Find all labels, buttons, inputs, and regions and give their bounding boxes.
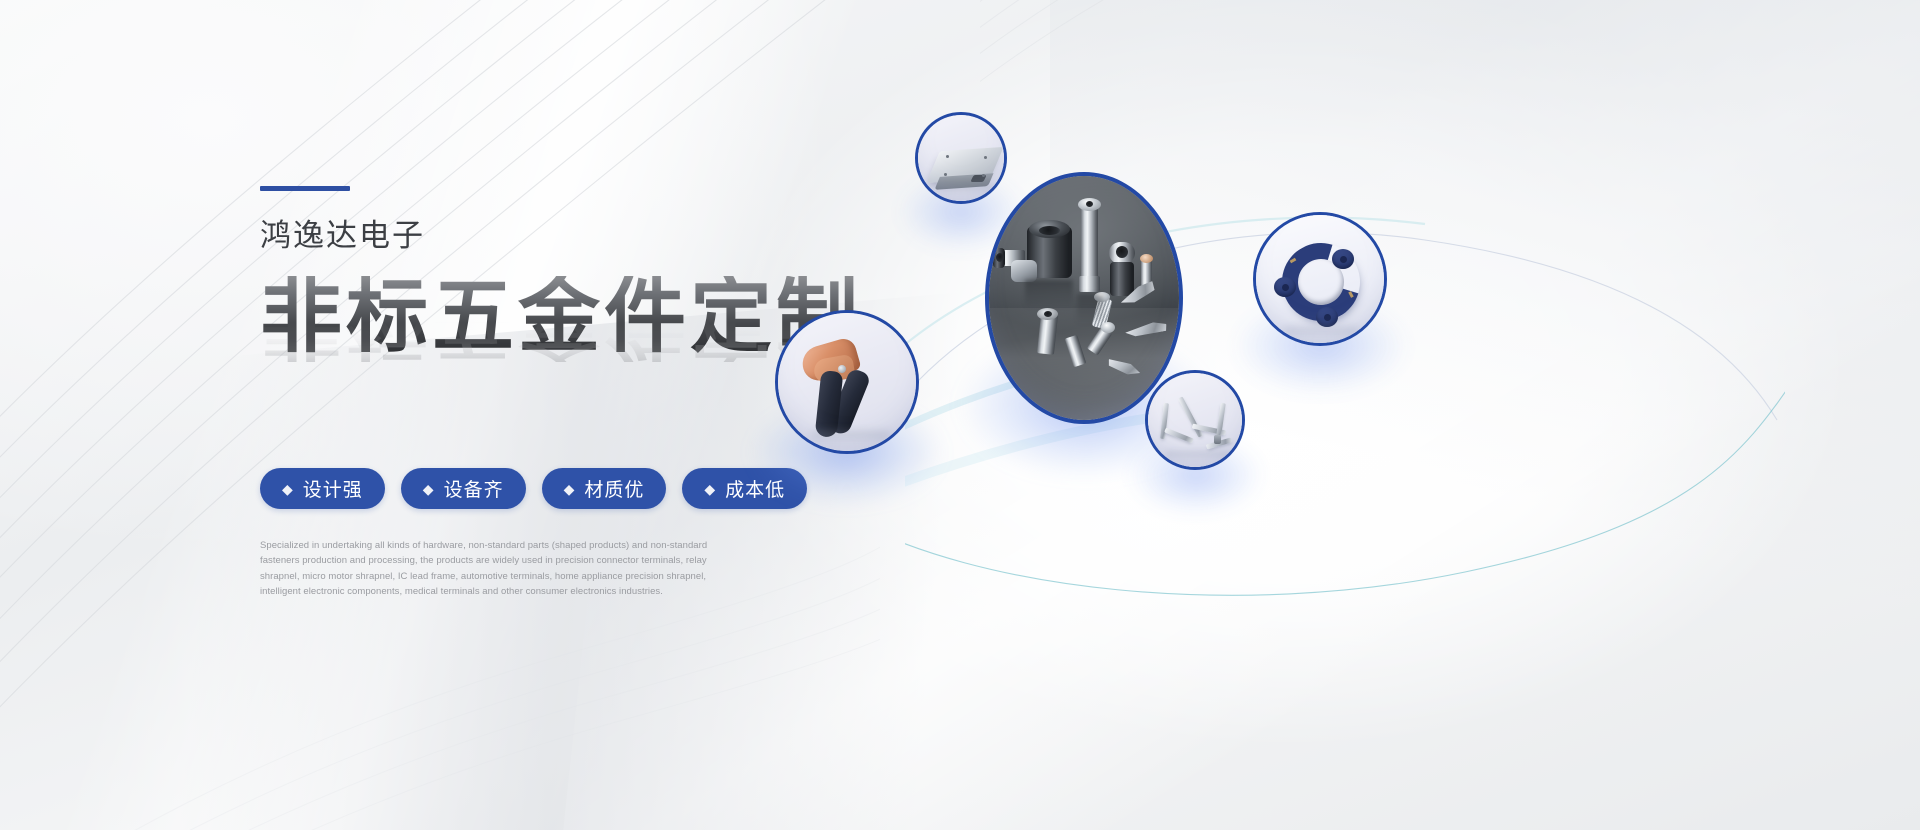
metal-enclosure-photo xyxy=(918,115,1004,201)
product-node-hex-keys[interactable] xyxy=(1145,370,1245,470)
feature-pill-label: 材质优 xyxy=(584,475,644,502)
hero-banner: 鸿逸达电子 非标五金件定制 非标五金件定制 ◆ 设计强 ◆ 设备齐 ◆ 材质优 … xyxy=(0,0,1920,830)
ring-lug-top xyxy=(1332,249,1354,269)
retaining-ring-photo xyxy=(1256,215,1384,343)
product-node-retaining-ring[interactable] xyxy=(1253,212,1387,346)
battery-clamp-photo xyxy=(778,313,916,451)
feature-pill-design[interactable]: ◆ 设计强 xyxy=(260,468,385,509)
feature-pill-label: 设备齐 xyxy=(444,475,504,502)
diamond-icon: ◆ xyxy=(282,482,294,496)
feature-pill-equipment[interactable]: ◆ 设备齐 xyxy=(401,468,526,509)
product-node-metal-enclosure[interactable] xyxy=(915,112,1007,204)
feature-pill-list: ◆ 设计强 ◆ 设备齐 ◆ 材质优 ◆ 成本低 xyxy=(260,468,807,509)
ring-lug-bottom xyxy=(1316,307,1338,327)
brand-name: 鸿逸达电子 xyxy=(260,217,900,254)
company-description: Specialized in undertaking all kinds of … xyxy=(260,538,730,600)
product-showcase xyxy=(905,120,1785,680)
ring-lug-left xyxy=(1274,277,1296,297)
product-node-battery-clamp[interactable] xyxy=(775,310,919,454)
feature-pill-label: 设计强 xyxy=(303,475,363,502)
feature-pill-label: 成本低 xyxy=(725,475,785,502)
diamond-icon: ◆ xyxy=(704,482,716,496)
diamond-icon: ◆ xyxy=(564,482,576,496)
feature-pill-material[interactable]: ◆ 材质优 xyxy=(542,468,667,509)
hex-keys-photo xyxy=(1148,373,1242,467)
accent-bar xyxy=(260,186,350,191)
clamp-pivot-pin xyxy=(838,365,846,373)
feature-pill-cost[interactable]: ◆ 成本低 xyxy=(682,468,807,509)
diamond-icon: ◆ xyxy=(423,482,435,496)
